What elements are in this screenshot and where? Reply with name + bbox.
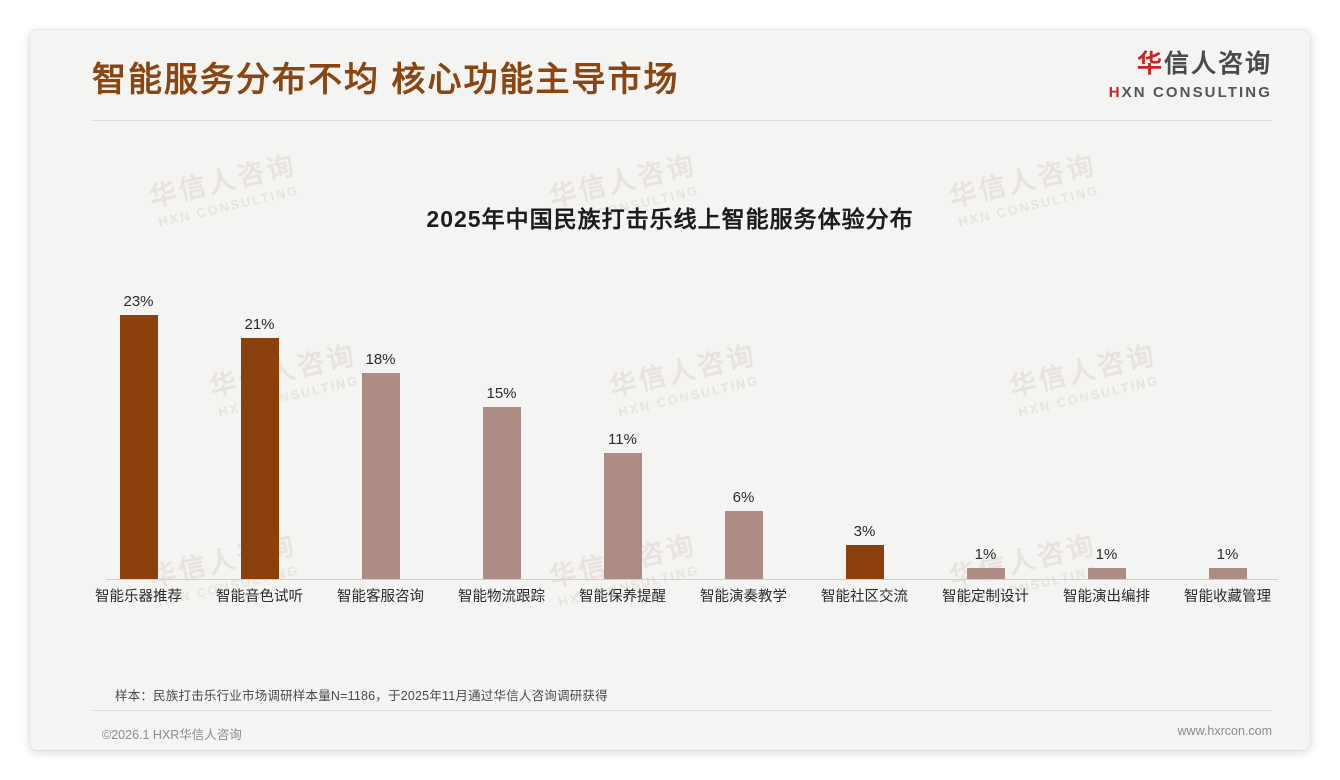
bar-group: 1% bbox=[925, 280, 1046, 580]
bar bbox=[846, 545, 884, 580]
bar-group: 11% bbox=[562, 280, 683, 580]
x-axis-label: 智能乐器推荐 bbox=[78, 585, 199, 606]
x-axis-label: 智能音色试听 bbox=[199, 585, 320, 606]
header-divider bbox=[92, 120, 1272, 121]
bar bbox=[604, 453, 642, 580]
x-axis-label: 智能演出编排 bbox=[1046, 585, 1167, 606]
bar-value-label: 21% bbox=[244, 316, 274, 333]
bar-value-label: 18% bbox=[365, 351, 395, 368]
bar-group: 1% bbox=[1046, 280, 1167, 580]
x-axis-tick-labels: 智能乐器推荐智能音色试听智能客服咨询智能物流跟踪智能保养提醒智能演奏教学智能社区… bbox=[78, 585, 1288, 606]
bar-value-label: 1% bbox=[975, 546, 997, 563]
bar bbox=[483, 407, 521, 580]
bar-group: 6% bbox=[683, 280, 804, 580]
bar-value-label: 15% bbox=[486, 385, 516, 402]
bar-group: 1% bbox=[1167, 280, 1288, 580]
brand-name-en: HXN CONSULTING bbox=[1109, 85, 1272, 100]
chart-container: 2025年中国民族打击乐线上智能服务体验分布 23%21%18%15%11%6%… bbox=[30, 130, 1310, 650]
bar-value-label: 3% bbox=[854, 523, 876, 540]
bar bbox=[725, 511, 763, 580]
bar-group: 21% bbox=[199, 280, 320, 580]
chart-title: 2025年中国民族打击乐线上智能服务体验分布 bbox=[30, 200, 1310, 234]
x-axis-label: 智能演奏教学 bbox=[683, 585, 804, 606]
bar-value-label: 11% bbox=[608, 431, 637, 448]
slide-header: 智能服务分布不均 核心功能主导市场 华信人咨询 HXN CONSULTING bbox=[30, 30, 1310, 120]
brand-en-rest: XN CONSULTING bbox=[1122, 84, 1272, 101]
bar-value-label: 6% bbox=[733, 489, 755, 506]
bar-group: 18% bbox=[320, 280, 441, 580]
x-axis-label: 智能社区交流 bbox=[804, 585, 925, 606]
source-footnote: 样本：民族打击乐行业市场调研样本量N=1186，于2025年11月通过华信人咨询… bbox=[115, 685, 608, 704]
brand-cn-rest: 信人咨询 bbox=[1164, 50, 1272, 78]
x-axis-label: 智能定制设计 bbox=[925, 585, 1046, 606]
bar-value-label: 1% bbox=[1096, 546, 1118, 563]
bar-group: 3% bbox=[804, 280, 925, 580]
bar bbox=[120, 315, 158, 580]
x-axis-line bbox=[106, 579, 1278, 580]
bar-group: 23% bbox=[78, 280, 199, 580]
footer-divider bbox=[92, 710, 1272, 711]
brand-name-cn: 华信人咨询 bbox=[1109, 52, 1272, 77]
x-axis-label: 智能客服咨询 bbox=[320, 585, 441, 606]
bar-value-label: 1% bbox=[1217, 546, 1239, 563]
brand-logo: 华信人咨询 HXN CONSULTING bbox=[1109, 52, 1272, 100]
brand-cn-accent: 华 bbox=[1137, 50, 1164, 78]
copyright-text: ©2026.1 HXR华信人咨询 bbox=[102, 724, 242, 743]
slide-card: 华信人咨询HXN CONSULTING华信人咨询HXN CONSULTING华信… bbox=[30, 30, 1310, 750]
slide-footer: ©2026.1 HXR华信人咨询 www.hxrcon.com bbox=[30, 718, 1310, 750]
page-title: 智能服务分布不均 核心功能主导市场 bbox=[92, 52, 679, 101]
bar bbox=[362, 373, 400, 580]
brand-en-accent: H bbox=[1109, 84, 1122, 101]
bar bbox=[241, 338, 279, 580]
x-axis-label: 智能收藏管理 bbox=[1167, 585, 1288, 606]
bar-value-label: 23% bbox=[123, 293, 153, 310]
x-axis-label: 智能物流跟踪 bbox=[441, 585, 562, 606]
bar-series: 23%21%18%15%11%6%3%1%1%1% bbox=[78, 280, 1288, 580]
bar-group: 15% bbox=[441, 280, 562, 580]
website-url: www.hxrcon.com bbox=[1178, 724, 1272, 738]
chart-plot-area: 23%21%18%15%11%6%3%1%1%1% bbox=[78, 260, 1288, 580]
x-axis-label: 智能保养提醒 bbox=[562, 585, 683, 606]
